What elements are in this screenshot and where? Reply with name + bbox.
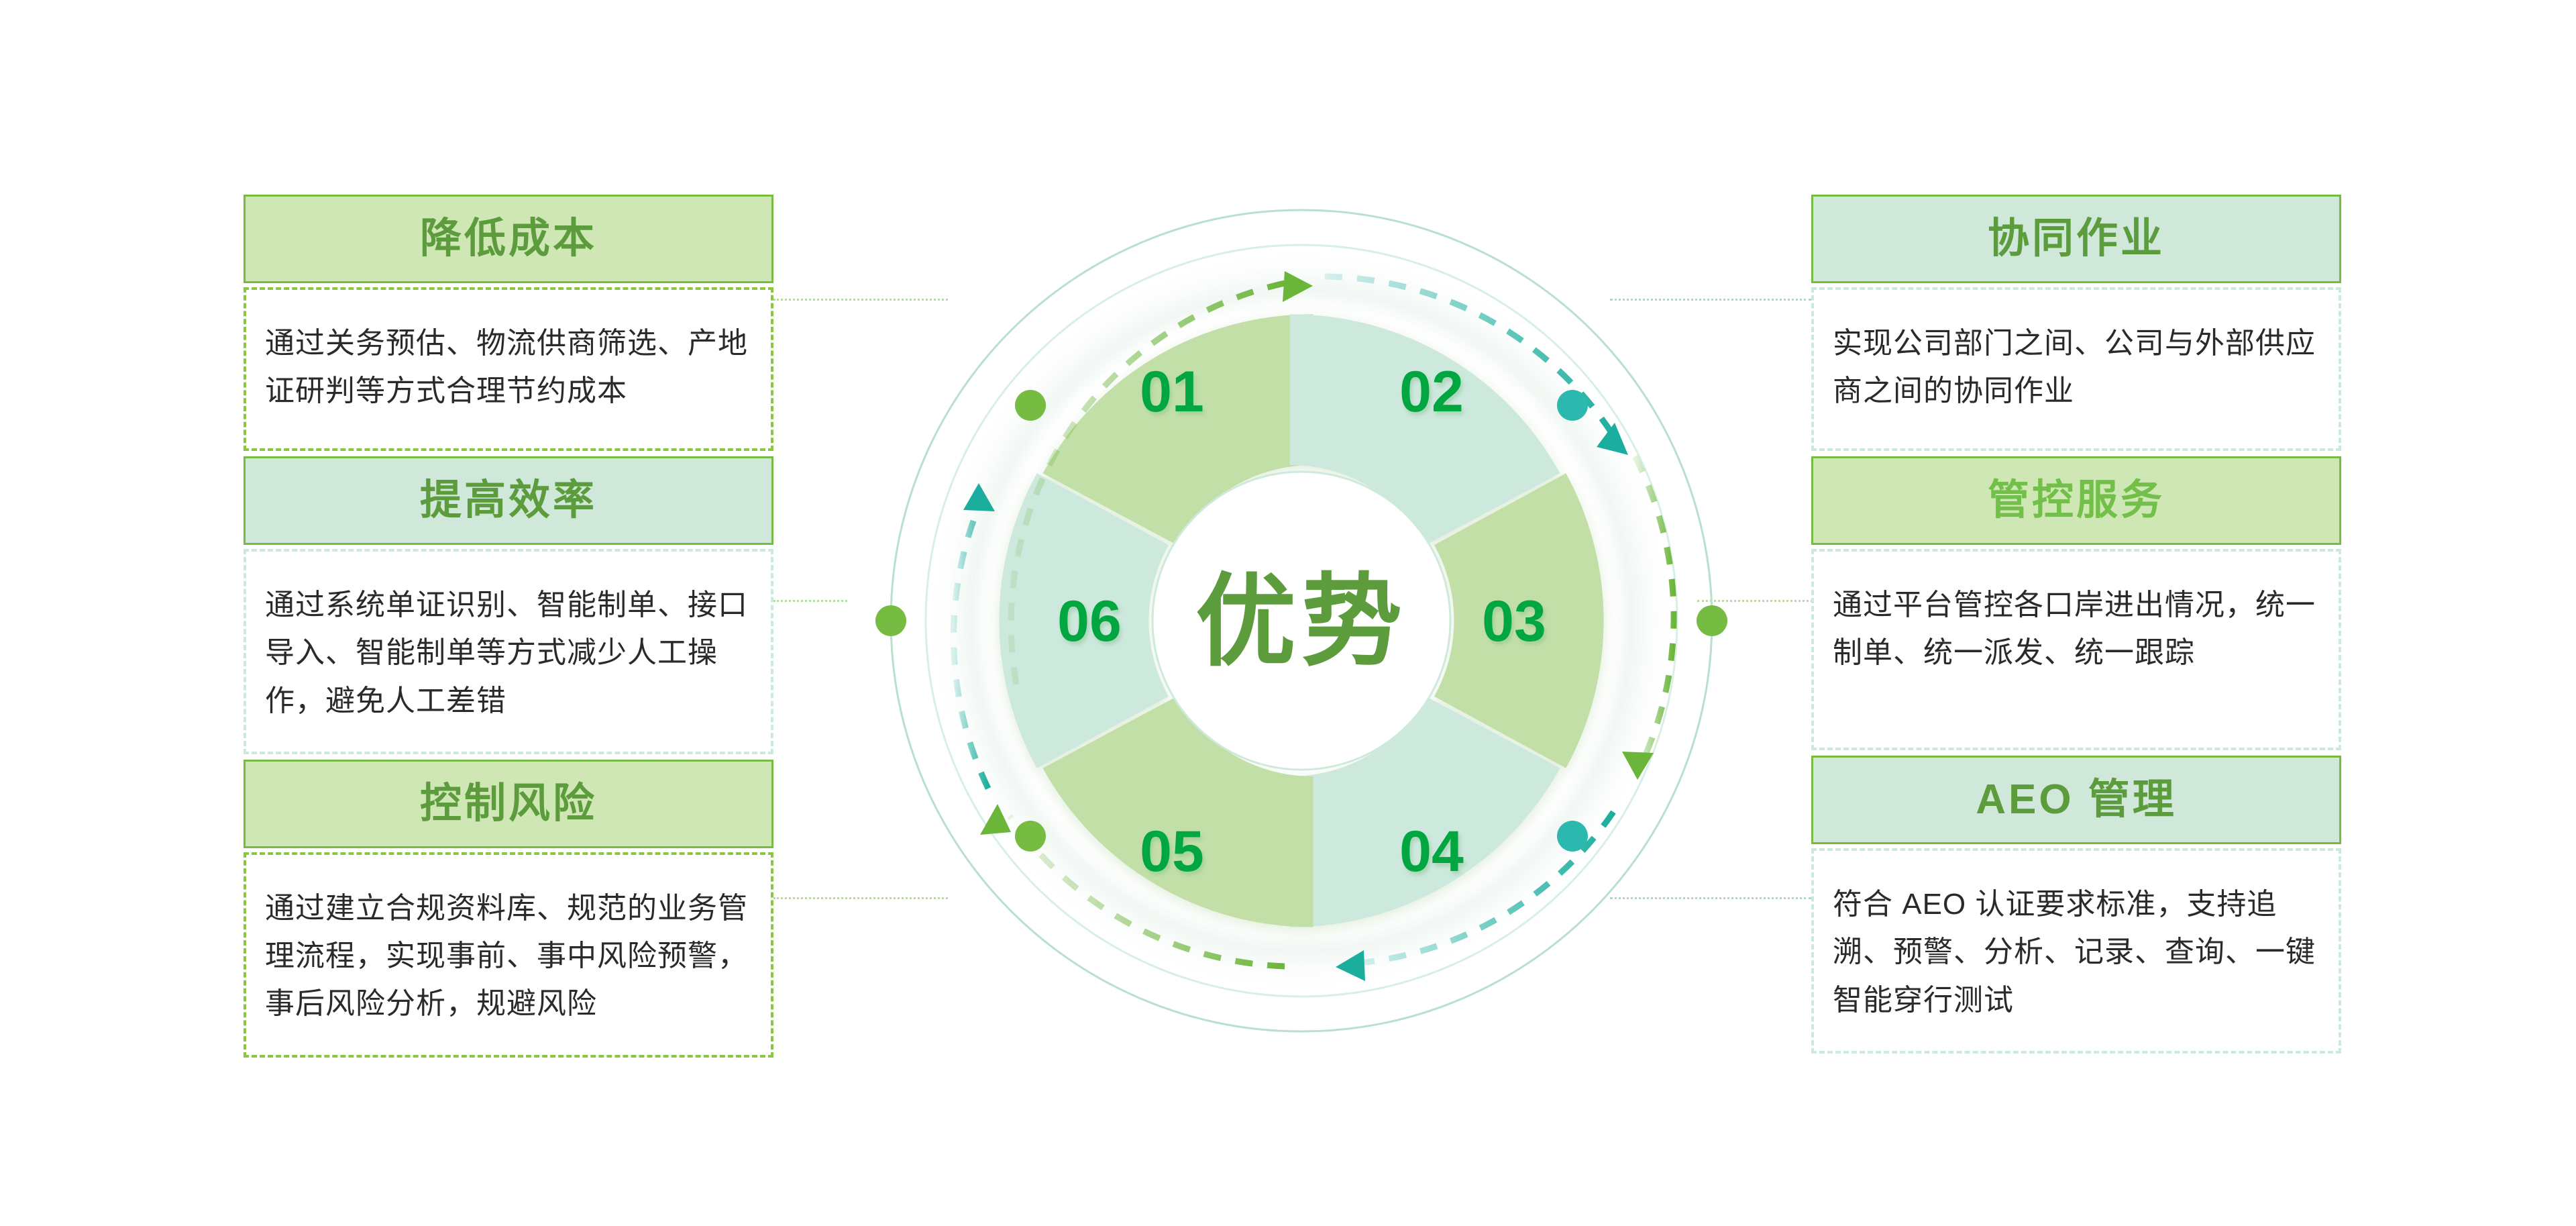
card-text-collaborative-work: 实现公司部门之间、公司与外部供应商之间的协同作业 bbox=[1833, 319, 2318, 415]
card-header-control-service: 管控服务 bbox=[1811, 456, 2341, 545]
right-card-column: 协同作业 实现公司部门之间、公司与外部供应商之间的协同作业 管控服务 通过平台管… bbox=[1811, 195, 2341, 1059]
card-header-aeo-management: AEO 管理 bbox=[1811, 756, 2341, 844]
anchor-dot-right-top[interactable] bbox=[1557, 390, 1588, 421]
segment-number-01: 01 bbox=[1140, 360, 1204, 424]
card-collaborative-work[interactable]: 协同作业 实现公司部门之间、公司与外部供应商之间的协同作业 bbox=[1811, 195, 2341, 451]
card-title-control-risk: 控制风险 bbox=[420, 783, 597, 825]
card-text-reduce-cost: 通过关务预估、物流供商筛选、产地证研判等方式合理节约成本 bbox=[265, 319, 751, 415]
segment-number-03: 03 bbox=[1482, 589, 1546, 654]
card-text-aeo-management: 符合 AEO 认证要求标准，支持追溯、预警、分析、记录、查询、一键智能穿行测试 bbox=[1833, 880, 2318, 1024]
card-aeo-management[interactable]: AEO 管理 符合 AEO 认证要求标准，支持追溯、预警、分析、记录、查询、一键… bbox=[1811, 756, 2341, 1054]
infographic-canvas: 01 02 03 04 05 06 优势 bbox=[0, 0, 2576, 1226]
card-title-control-service: 管控服务 bbox=[1988, 480, 2165, 521]
card-body-control-risk: 通过建立合规资料库、规范的业务管理流程，实现事前、事中风险预警，事后风险分析，规… bbox=[244, 852, 773, 1058]
left-card-column: 降低成本 通过关务预估、物流供商筛选、产地证研判等方式合理节约成本 提高效率 通… bbox=[244, 195, 773, 1063]
card-control-risk[interactable]: 控制风险 通过建立合规资料库、规范的业务管理流程，实现事前、事中风险预警，事后风… bbox=[244, 760, 773, 1058]
card-reduce-cost[interactable]: 降低成本 通过关务预估、物流供商筛选、产地证研判等方式合理节约成本 bbox=[244, 195, 773, 451]
card-body-aeo-management: 符合 AEO 认证要求标准，支持追溯、预警、分析、记录、查询、一键智能穿行测试 bbox=[1811, 848, 2341, 1054]
card-body-control-service: 通过平台管控各口岸进出情况，统一制单、统一派发、统一跟踪 bbox=[1811, 549, 2341, 750]
card-body-collaborative-work: 实现公司部门之间、公司与外部供应商之间的协同作业 bbox=[1811, 287, 2341, 451]
anchor-dot-left-bottom[interactable] bbox=[1015, 821, 1046, 852]
card-title-aeo-management: AEO 管理 bbox=[1976, 779, 2177, 821]
segment-number-02: 02 bbox=[1399, 360, 1464, 424]
card-body-improve-efficiency: 通过系统单证识别、智能制单、接口导入、智能制单等方式减少人工操作，避免人工差错 bbox=[244, 549, 773, 754]
segment-number-05: 05 bbox=[1140, 819, 1204, 884]
anchor-dot-right-mid[interactable] bbox=[1697, 605, 1727, 636]
center-label: 优势 bbox=[1195, 565, 1407, 678]
anchor-dot-left-mid[interactable] bbox=[875, 605, 906, 636]
card-title-reduce-cost: 降低成本 bbox=[420, 218, 597, 260]
card-text-control-service: 通过平台管控各口岸进出情况，统一制单、统一派发、统一跟踪 bbox=[1833, 581, 2318, 677]
card-header-reduce-cost: 降低成本 bbox=[244, 195, 773, 283]
card-header-improve-efficiency: 提高效率 bbox=[244, 456, 773, 545]
card-improve-efficiency[interactable]: 提高效率 通过系统单证识别、智能制单、接口导入、智能制单等方式减少人工操作，避免… bbox=[244, 456, 773, 754]
card-text-control-risk: 通过建立合规资料库、规范的业务管理流程，实现事前、事中风险预警，事后风险分析，规… bbox=[265, 884, 751, 1028]
card-body-reduce-cost: 通过关务预估、物流供商筛选、产地证研判等方式合理节约成本 bbox=[244, 287, 773, 451]
anchor-dot-right-bottom[interactable] bbox=[1557, 821, 1588, 852]
segment-number-06: 06 bbox=[1057, 589, 1122, 654]
card-header-control-risk: 控制风险 bbox=[244, 760, 773, 848]
anchor-dot-left-top[interactable] bbox=[1015, 390, 1046, 421]
card-title-improve-efficiency: 提高效率 bbox=[420, 480, 597, 521]
card-control-service[interactable]: 管控服务 通过平台管控各口岸进出情况，统一制单、统一派发、统一跟踪 bbox=[1811, 456, 2341, 750]
card-header-collaborative-work: 协同作业 bbox=[1811, 195, 2341, 283]
segment-number-04: 04 bbox=[1399, 819, 1464, 884]
advantage-donut-diagram: 01 02 03 04 05 06 优势 bbox=[815, 134, 1788, 1107]
card-text-improve-efficiency: 通过系统单证识别、智能制单、接口导入、智能制单等方式减少人工操作，避免人工差错 bbox=[265, 581, 751, 725]
card-title-collaborative-work: 协同作业 bbox=[1988, 218, 2165, 260]
